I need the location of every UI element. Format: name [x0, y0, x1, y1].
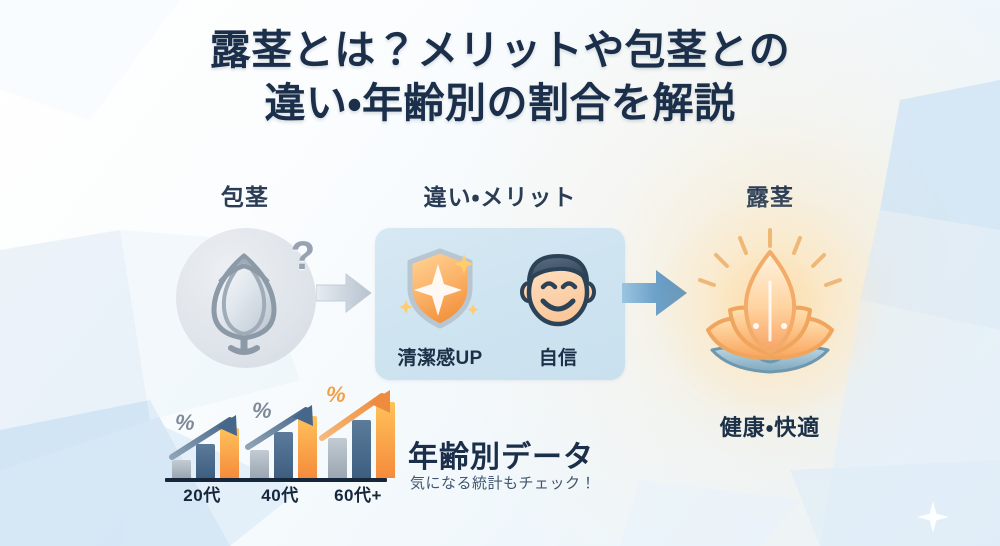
- title-line-1: 露茎とは？メリットや包茎との: [210, 27, 791, 73]
- trend-arrow-40s: [244, 400, 324, 452]
- chart-tick-40s: 40代: [244, 481, 316, 506]
- arrow-left-to-middle: [316, 272, 372, 319]
- age-bar-chart: % % % 20代 40代 60代: [160, 392, 395, 500]
- title-line-2: 違い・年齢別の割合を解説: [0, 77, 1000, 130]
- lotus-illustration: [680, 222, 860, 387]
- bar-60s-gray: [328, 438, 347, 478]
- smiling-face-icon: [512, 242, 604, 334]
- trend-arrow-60s: [318, 386, 402, 444]
- chart-tick-60s: 60代+: [318, 481, 398, 506]
- benefit-caption-cleanliness: 清潔感UP: [385, 343, 495, 370]
- chart-tick-20s: 20代: [166, 481, 238, 506]
- bar-20s-gray: [172, 460, 191, 478]
- page-title: 露茎とは？メリットや包茎との 違い・年齢別の割合を解説: [0, 24, 1000, 131]
- lotus-flower-icon: [680, 222, 860, 387]
- question-mark-badge: ?: [291, 234, 315, 279]
- data-section-title: 年齢別データ: [408, 432, 594, 476]
- right-caption: 健康・快適: [675, 410, 865, 442]
- data-section-subtitle: 気になる統計もチェック！: [410, 472, 596, 493]
- benefit-item-cleanliness: 清潔感UP: [385, 242, 495, 370]
- benefits-panel: 清潔感UP: [375, 228, 625, 380]
- benefit-item-confidence: 自信: [503, 242, 613, 370]
- shield-sparkle-icon: [394, 242, 486, 334]
- trend-arrow-20s: [168, 410, 248, 462]
- bar-40s-gray: [250, 450, 269, 478]
- stage-label-left: 包茎: [150, 178, 340, 212]
- closed-bud-illustration: ?: [176, 228, 316, 368]
- sparkle-decoration: [916, 500, 950, 539]
- benefit-caption-confidence: 自信: [503, 343, 613, 370]
- stage-label-middle: 違い・メリット: [375, 178, 625, 212]
- infographic-canvas: 露茎とは？メリットや包茎との 違い・年齢別の割合を解説 包茎 違い・メリット 露…: [0, 0, 1000, 546]
